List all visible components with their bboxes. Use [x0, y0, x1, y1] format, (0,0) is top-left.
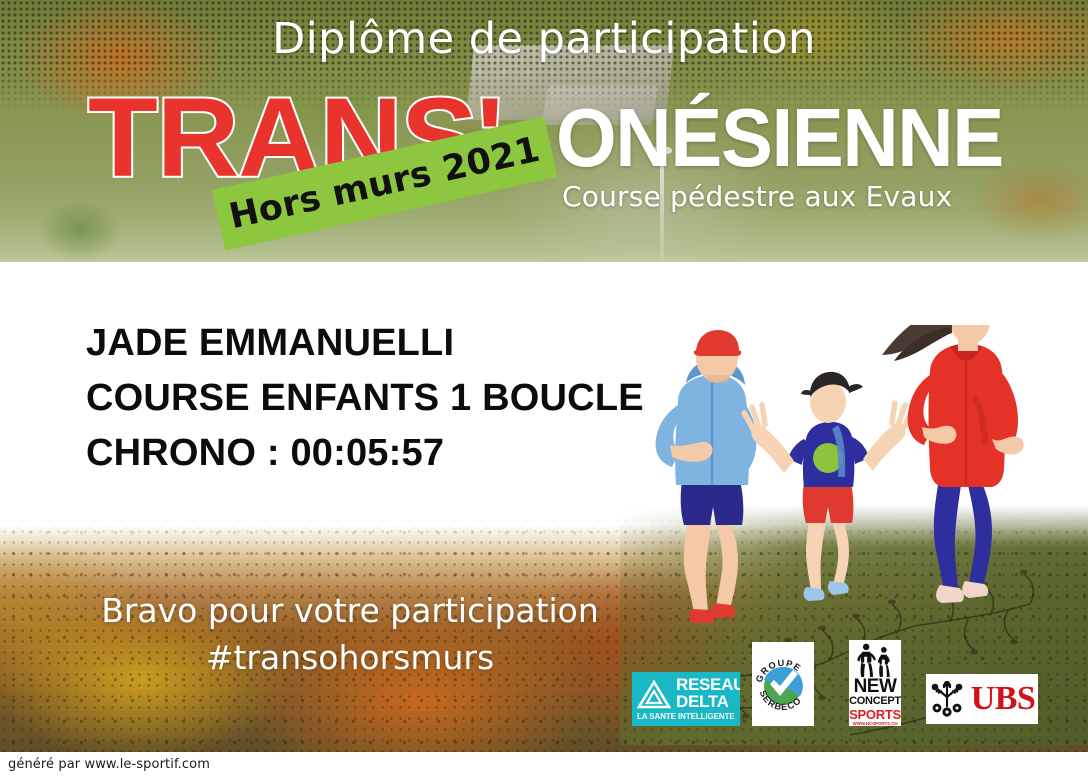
- reseau-delta-wordmark: RESEAU DELTA: [676, 677, 740, 710]
- race-category: COURSE ENFANTS 1 BOUCLE: [86, 371, 706, 426]
- new-concept-line3: SPORTS: [849, 708, 901, 722]
- generated-by-label: généré par www.le-sportif.com: [0, 757, 210, 772]
- participant-name: JADE EMMANUELLI: [86, 316, 706, 371]
- event-hashtag: #transohorsmurs: [60, 635, 640, 682]
- congratulation-block: Bravo pour votre participation #transoho…: [60, 588, 640, 682]
- ubs-three-keys-icon: [929, 681, 965, 717]
- event-name-onesienne: ONÉSIENNE: [556, 96, 1003, 179]
- sponsor-logo-groupe-serbeco[interactable]: GROUPE SERBECO: [752, 642, 814, 726]
- runner-silhouettes-icon: [853, 642, 897, 677]
- delta-triangle-icon: [637, 678, 671, 710]
- reseau-delta-main-row: RESEAU DELTA: [632, 672, 740, 712]
- reseau-delta-line2: DELTA: [676, 694, 740, 710]
- sponsor-logo-ubs[interactable]: UBS: [926, 674, 1038, 724]
- woman-runner-red-figure: [882, 325, 1024, 603]
- reseau-delta-tagline: LA SANTE INTELLIGENTE: [632, 712, 740, 721]
- child-runner-figure: [744, 372, 913, 601]
- new-concept-url: WWW.NCSPORTS.CH: [853, 722, 898, 727]
- congratulation-message: Bravo pour votre participation: [60, 588, 640, 635]
- adult-runner-blue-figure: [656, 330, 757, 623]
- result-block: JADE EMMANUELLI COURSE ENFANTS 1 BOUCLE …: [86, 316, 706, 481]
- page-title: Diplôme de participation: [0, 14, 1088, 64]
- footer-bar: généré par www.le-sportif.com: [0, 752, 1088, 777]
- sponsor-logo-reseau-delta[interactable]: RESEAU DELTA LA SANTE INTELLIGENTE: [632, 672, 740, 726]
- three-runners-illustration: [620, 325, 1065, 625]
- sponsor-logo-new-concept-sports[interactable]: NEW CONCEPT SPORTS WWW.NCSPORTS.CH: [849, 640, 901, 726]
- participation-certificate: Diplôme de participation TRANS' ONÉSIENN…: [0, 0, 1088, 777]
- serbeco-circular-mark: GROUPE SERBECO: [752, 642, 814, 726]
- event-subtitle: Course pédestre aux Evaux: [562, 180, 952, 213]
- ubs-wordmark: UBS: [971, 682, 1036, 716]
- sponsor-logos: RESEAU DELTA LA SANTE INTELLIGENTE GROUP…: [630, 640, 1050, 730]
- chrono-time: CHRONO : 00:05:57: [86, 426, 706, 481]
- new-concept-line1: NEW: [854, 677, 897, 696]
